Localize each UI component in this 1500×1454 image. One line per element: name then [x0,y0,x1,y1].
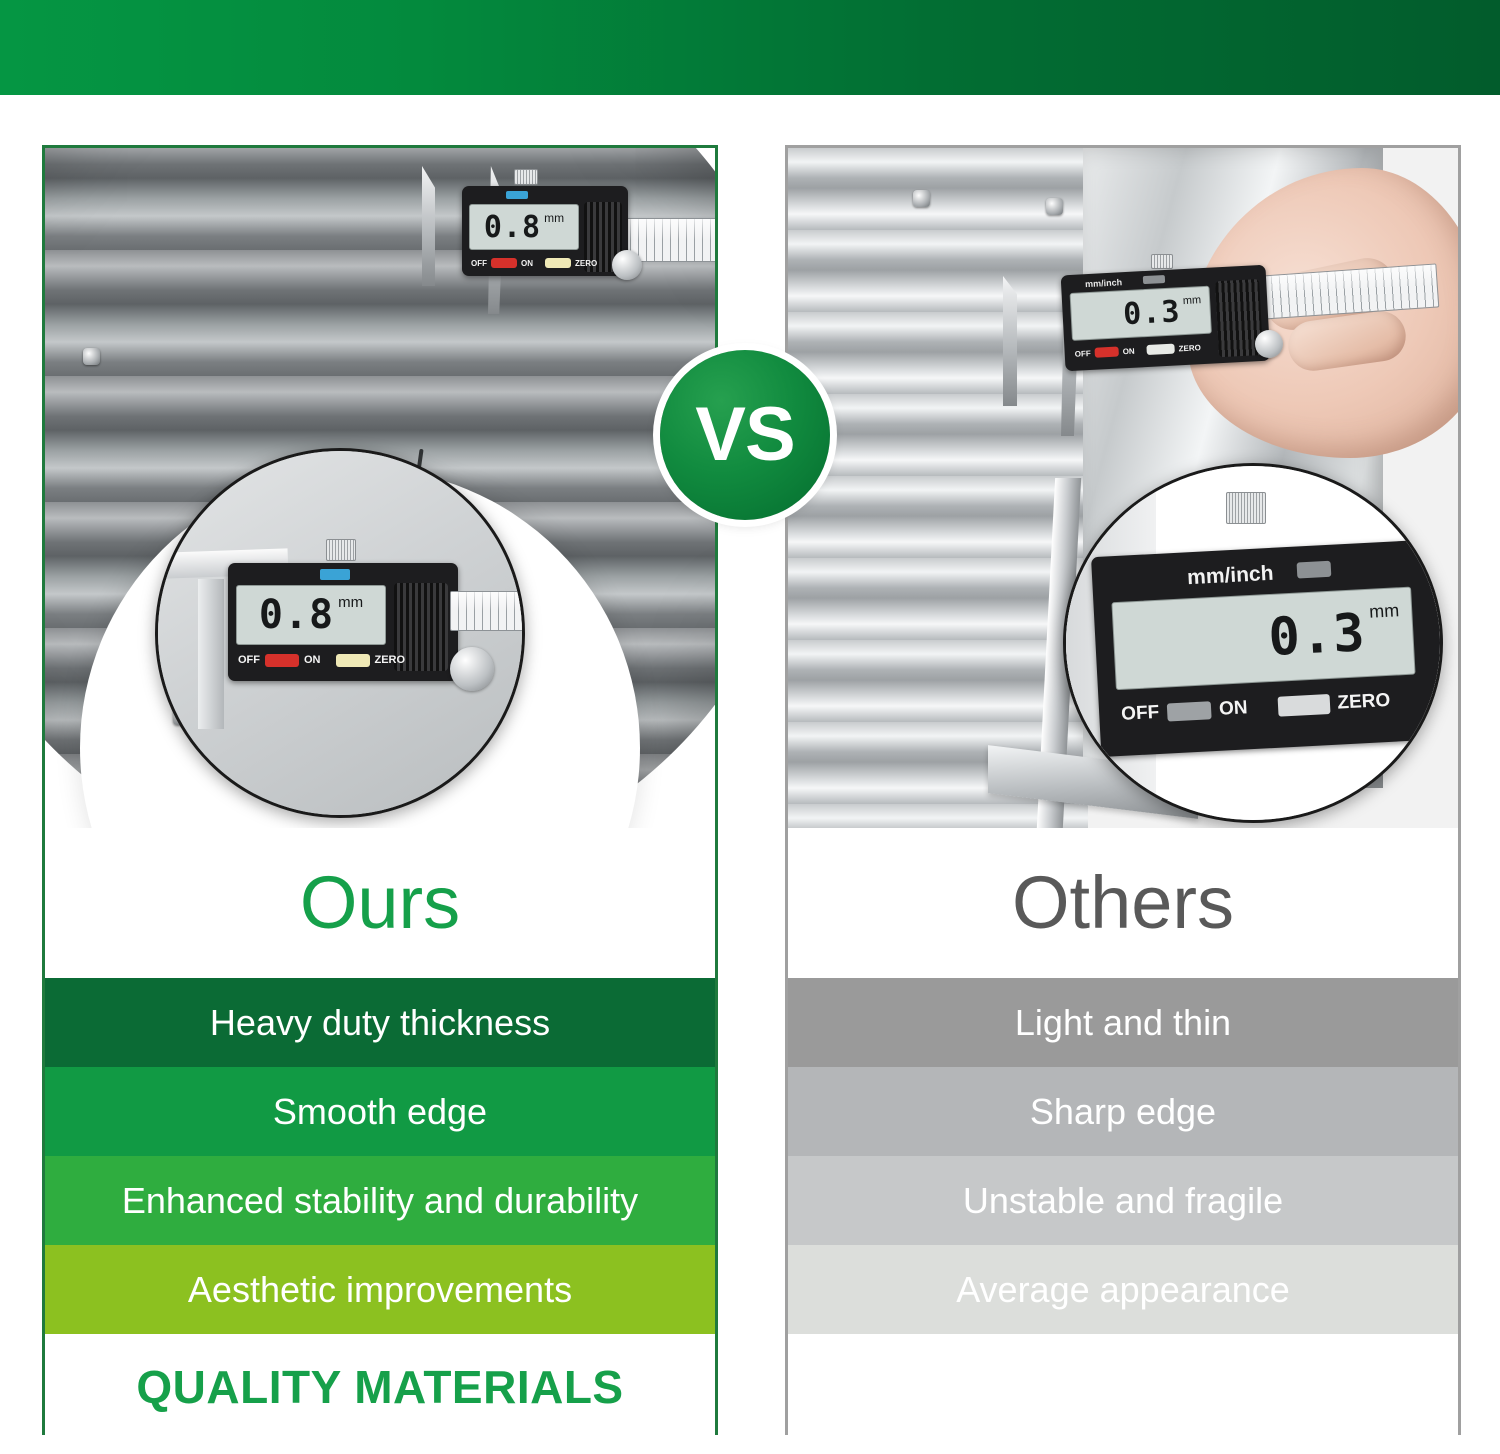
caliper-power-switch[interactable] [1094,347,1118,358]
ours-feature-row-2: Smooth edge [45,1067,715,1156]
caliper-reading-value: 0.8 [259,592,334,638]
caliper-lock-screw [326,539,356,561]
quality-materials-label: QUALITY MATERIALS [136,1360,623,1414]
caliper-off-label: OFF [1075,348,1091,358]
comparison-infographic: 0.8 mm OFF ON ZERO [0,0,1500,1454]
ours-title-cell: Ours [45,828,715,978]
others-panel: mm/inch 0.3 mm OFF ON ZERO [785,145,1461,1435]
others-feature-row-2: Sharp edge [788,1067,1458,1156]
feature-label: Enhanced stability and durability [122,1180,638,1222]
caliper-power-switch[interactable] [491,258,517,268]
ours-feature-row-3: Enhanced stability and durability [45,1156,715,1245]
caliper-lock-screw [1226,492,1266,524]
caliper-power-switch[interactable] [1167,701,1212,721]
vs-label: VS [695,397,794,473]
caliper-off-label: OFF [238,654,260,666]
caliper-zero-label: ZERO [1178,343,1201,353]
caliper-jaw-fixed [1003,276,1017,406]
caliper-mode-label: mm/inch [1085,277,1122,289]
caliper-scale-beam [450,591,525,631]
top-green-banner [0,0,1500,95]
bolt-icon [83,348,100,365]
others-title-cell: Others [788,828,1458,978]
caliper-mode-button[interactable] [320,569,350,580]
digital-caliper-others: mm/inch 0.3 mm OFF ON ZERO [1003,258,1443,458]
caliper-scale-beam [1247,263,1440,320]
feature-label: Heavy duty thickness [210,1002,550,1044]
caliper-zero-button[interactable] [545,258,571,268]
caliper-body: mm/inch 0.3 mm OFF ON ZERO [1091,539,1443,757]
caliper-thumb-roller[interactable] [450,647,494,691]
feature-label: Smooth edge [273,1091,487,1133]
caliper-on-label: ON [1122,346,1134,356]
feature-label: Light and thin [1015,1002,1231,1044]
feature-label: Sharp edge [1030,1091,1216,1133]
ours-feature-row-4: Aesthetic improvements [45,1245,715,1334]
ours-panel: 0.8 mm OFF ON ZERO [42,145,718,1435]
caliper-reading-unit: mm [1182,294,1201,307]
page-title-others: Others [1012,866,1234,940]
caliper-lcd-display: 0.8 mm [469,204,579,250]
feature-label: Aesthetic improvements [188,1269,572,1311]
magnified-caliper-others: mm/inch 0.3 mm OFF ON ZERO [1063,463,1443,823]
digital-caliper-ours: 0.8 mm OFF ON ZERO [400,166,715,346]
caliper-body: 0.8 mm OFF ON ZERO [228,563,458,681]
caliper-button-row: OFF ON ZERO [1121,686,1432,728]
vs-badge: VS [660,350,830,520]
magnified-caliper-ours: 0.8 mm OFF ON ZERO [155,448,525,818]
caliper-thumb-roller[interactable] [612,250,642,280]
caliper-button-row: OFF ON ZERO [1074,337,1254,360]
caliper-lcd-display: 0.8 mm [236,585,386,645]
caliper-lcd-display: 0.3 mm [1111,587,1415,691]
caliper-zero-button[interactable] [1277,694,1330,717]
caliper-lock-screw [1151,254,1173,269]
feature-label: Average appearance [956,1269,1290,1311]
page-title-ours: Ours [300,866,460,940]
caliper-reading-value: 0.3 [1267,603,1367,668]
caliper-reading-unit: mm [1369,600,1400,623]
caliper-zero-label: ZERO [375,654,406,666]
caliper-button-row: OFF ON ZERO [238,651,448,669]
others-feature-row-3: Unstable and fragile [788,1156,1458,1245]
caliper-zero-button[interactable] [336,654,370,667]
caliper-reading-value: 0.8 [484,210,541,245]
ours-feature-row-1: Heavy duty thickness [45,978,715,1067]
bolt-icon [913,190,930,207]
inset-jaw [198,579,224,729]
ours-footer-cell: QUALITY MATERIALS [45,1334,715,1439]
others-feature-row-1: Light and thin [788,978,1458,1067]
bolt-icon [1046,198,1063,215]
caliper-zero-label: ZERO [1337,690,1391,715]
caliper-body: mm/inch 0.3 mm OFF ON ZERO [1061,265,1271,372]
caliper-on-label: ON [304,654,321,666]
caliper-lock-screw [514,169,538,185]
caliper-power-switch[interactable] [265,654,299,667]
caliper-zero-button[interactable] [1146,344,1174,355]
caliper-reading-unit: mm [544,211,564,225]
caliper-zero-label: ZERO [575,259,597,268]
caliper-on-label: ON [1219,697,1249,720]
caliper-lcd-display: 0.3 mm [1070,286,1212,341]
caliper-body: 0.8 mm OFF ON ZERO [462,186,628,276]
caliper-mode-button[interactable] [1143,275,1165,284]
others-product-photo: mm/inch 0.3 mm OFF ON ZERO [788,148,1458,828]
caliper-jaw-fixed [422,166,435,286]
caliper-mode-button[interactable] [506,191,528,199]
caliper-mode-button[interactable] [1297,561,1332,579]
caliper-off-label: OFF [1121,702,1160,726]
caliper-off-label: OFF [471,259,487,268]
caliper-button-row: OFF ON ZERO [471,256,621,270]
others-footer-cell [788,1334,1458,1439]
caliper-on-label: ON [521,259,533,268]
caliper-thumb-roller[interactable] [1255,330,1283,358]
others-feature-row-4: Average appearance [788,1245,1458,1334]
caliper-reading-unit: mm [338,594,363,611]
feature-label: Unstable and fragile [963,1180,1283,1222]
ours-product-photo: 0.8 mm OFF ON ZERO [45,148,715,828]
caliper-mode-label: mm/inch [1187,562,1274,590]
caliper-reading-value: 0.3 [1122,294,1181,332]
